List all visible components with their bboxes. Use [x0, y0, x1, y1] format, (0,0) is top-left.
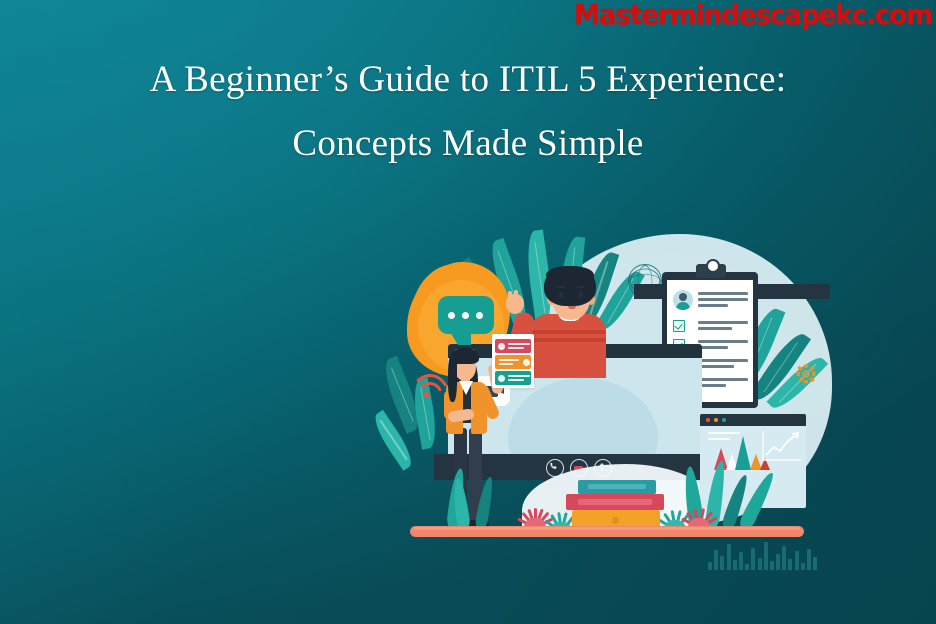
- page-title: A Beginner’s Guide to ITIL 5 Experience:…: [0, 48, 936, 175]
- mountain-shape: [735, 436, 751, 470]
- fan-flower-red: [682, 506, 716, 528]
- held-card-row-icon: [498, 375, 505, 382]
- held-card-row: [495, 355, 531, 369]
- panel-label-line: [708, 432, 740, 434]
- page-title-line-2: Concepts Made Simple: [0, 112, 936, 176]
- participant-man-brow: [557, 286, 565, 288]
- wifi-dot: [424, 392, 430, 398]
- chat-dot: [476, 312, 483, 319]
- panel-dot-close-icon[interactable]: [706, 418, 710, 422]
- held-card: [492, 334, 534, 388]
- panel-title-bar: [700, 414, 806, 426]
- clipboard-clip-ring: [706, 259, 720, 273]
- participant-man-eye: [579, 292, 583, 298]
- clipboard-task-line: [698, 359, 748, 362]
- bar-chart: [708, 542, 817, 570]
- chat-bubble: [438, 296, 494, 334]
- chat-dot: [462, 312, 469, 319]
- held-card-row-icon: [523, 359, 530, 366]
- participant-man-body: [530, 314, 606, 378]
- clipboard-header-line: [698, 292, 748, 295]
- clipboard-task-line: [698, 378, 748, 381]
- screen-glow: [508, 378, 658, 462]
- held-card-row: [495, 339, 531, 353]
- site-watermark: Mastermindescapekc.com: [574, 1, 932, 29]
- sweater-stripe: [530, 330, 606, 334]
- gear-icon: [794, 362, 818, 386]
- held-card-row-line: [508, 375, 530, 377]
- online-training-illustration: [396, 228, 856, 578]
- featured-image-canvas: Mastermindescapekc.com A Beginner’s Guid…: [0, 0, 936, 624]
- presenter-hair-side: [448, 354, 457, 402]
- clipboard-task-line: [698, 321, 748, 324]
- ground-highlight: [414, 527, 800, 530]
- avatar-head: [679, 293, 687, 301]
- page-title-line-1: A Beginner’s Guide to ITIL 5 Experience:: [150, 59, 787, 100]
- sweater-stripe: [530, 338, 606, 342]
- clipboard-header-line: [698, 298, 748, 301]
- participant-man-brow: [577, 286, 585, 288]
- clipboard-task-line: [698, 340, 748, 343]
- participant-man-fringe: [546, 266, 594, 286]
- panel-dot-minimize-icon[interactable]: [714, 418, 718, 422]
- held-card-row-line: [508, 347, 524, 349]
- clipboard-task-line: [698, 327, 732, 330]
- book-top-label: [588, 484, 646, 489]
- held-card-row: [495, 371, 531, 385]
- panel-dot-maximize-icon[interactable]: [722, 418, 726, 422]
- held-card-row-line: [499, 359, 519, 361]
- participant-man-waving-hand: [506, 294, 524, 314]
- clipboard-header-line: [698, 304, 728, 307]
- clipboard-task-line: [698, 365, 734, 368]
- held-card-row-line: [508, 379, 524, 381]
- participant-man-eye: [559, 292, 563, 298]
- book-bottom-dot: [612, 517, 619, 524]
- avatar-body: [676, 302, 690, 310]
- clipboard-task-line: [698, 384, 726, 387]
- held-card-row-line: [499, 363, 513, 365]
- held-card-row-icon: [498, 343, 505, 350]
- trend-line-chart: [762, 430, 800, 460]
- book-middle-label: [578, 499, 652, 505]
- panel-label-line: [708, 438, 730, 440]
- checkbox-checked-icon: [673, 320, 685, 332]
- clipboard-task-line: [698, 346, 728, 349]
- avatar: [673, 290, 693, 310]
- chat-dot: [448, 312, 455, 319]
- held-card-row-line: [508, 343, 530, 345]
